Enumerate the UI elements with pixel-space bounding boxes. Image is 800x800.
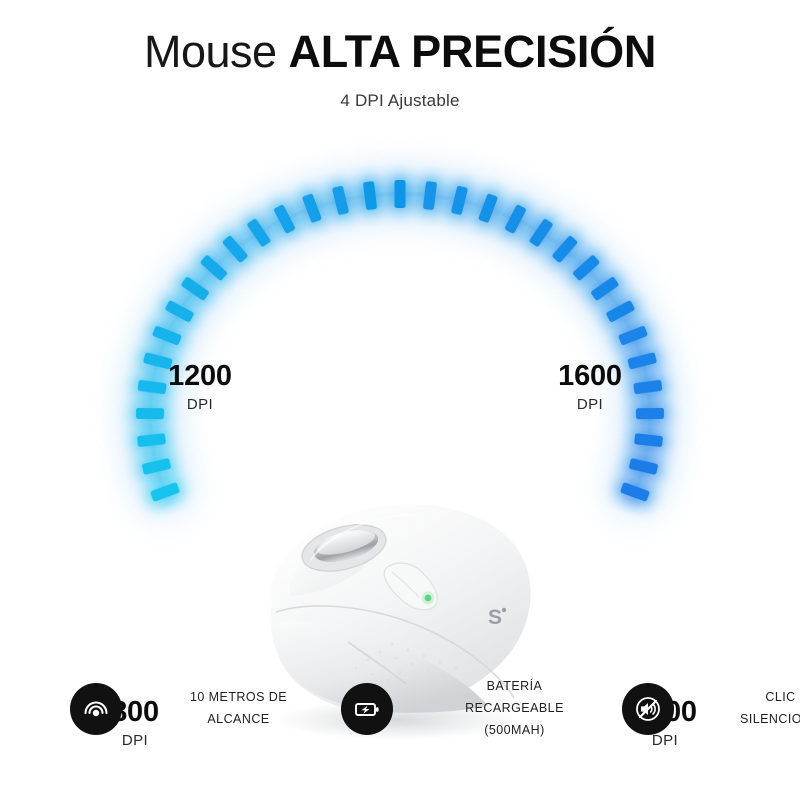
feature-label-battery: BATERÍA RECARGEABLE (500MAH) [407, 676, 622, 742]
feature-label-range-line1: 10 METROS DE [136, 687, 341, 709]
wireless-range-icon [70, 683, 122, 735]
feature-label-silent-click: CLIC SILENCIOSO [688, 687, 800, 731]
dpi-tick [395, 180, 406, 208]
feature-label-range: 10 METROS DE ALCANCE [136, 687, 341, 731]
feature-label-battery-line2: RECARGEABLE [407, 698, 622, 720]
feature-label-battery-line3: (500MAH) [407, 720, 622, 742]
feature-item-silent-click: CLIC SILENCIOSO [622, 676, 800, 742]
page-title: Mouse ALTA PRECISIÓN [0, 28, 800, 77]
header: Mouse ALTA PRECISIÓN 4 DPI Ajustable [0, 0, 800, 111]
feature-label-battery-line1: BATERÍA [407, 676, 622, 698]
rechargeable-battery-icon [341, 683, 393, 735]
brand-logo-dot [502, 608, 506, 612]
feature-label-silent-line2: SILENCIOSO [688, 709, 800, 731]
page-title-bold: ALTA PRECISIÓN [289, 26, 656, 77]
feature-label-range-line2: ALCANCE [136, 709, 341, 731]
feature-list: 10 METROS DE ALCANCE BATERÍA RECARGEABLE… [0, 676, 800, 742]
dpi-unit-1200: DPI [140, 397, 260, 412]
arc-tick-layer [136, 180, 664, 502]
arc-glow-layer [124, 168, 676, 518]
page-title-light: Mouse [144, 26, 289, 77]
dpi-gauge-stage: 1200 DPI 1600 DPI 800 DPI 3200 DPI [0, 150, 800, 650]
feature-label-silent-line1: CLIC [688, 687, 800, 709]
dpi-value-1600: 1600 [530, 362, 650, 391]
feature-item-range: 10 METROS DE ALCANCE [70, 676, 341, 742]
dpi-label-1600: 1600 DPI [530, 362, 650, 412]
brand-logo: S [488, 606, 502, 629]
feature-item-battery: BATERÍA RECARGEABLE (500MAH) [341, 676, 622, 742]
dpi-unit-1600: DPI [530, 397, 650, 412]
dpi-value-1200: 1200 [140, 362, 260, 391]
dpi-led-glow [422, 592, 435, 605]
page-subtitle: 4 DPI Ajustable [0, 91, 800, 111]
dpi-label-1200: 1200 DPI [140, 362, 260, 412]
silent-click-icon [622, 683, 674, 735]
